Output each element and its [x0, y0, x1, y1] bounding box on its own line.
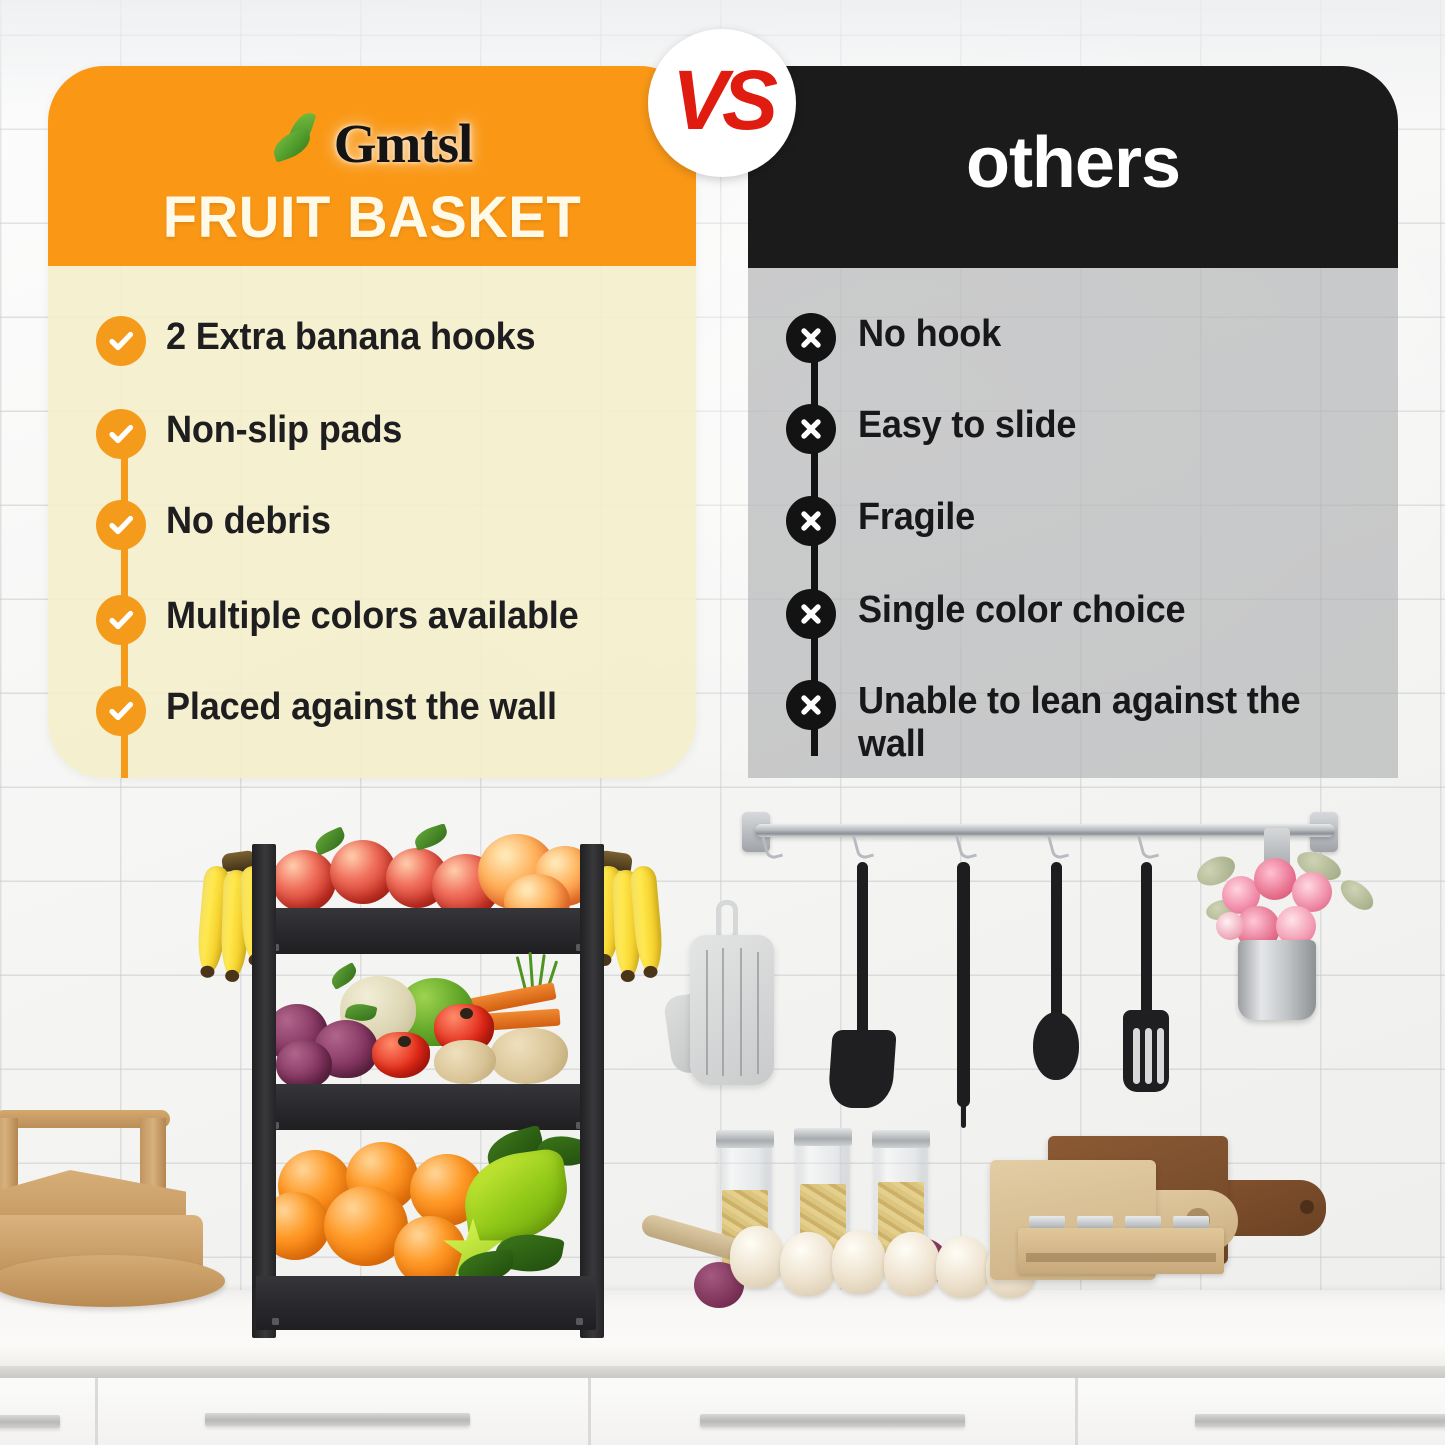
- cabinet-handle[interactable]: [205, 1413, 470, 1426]
- list-item: No debris: [96, 500, 666, 550]
- list-item: Easy to slide: [786, 404, 1386, 454]
- counter-edge: [0, 1366, 1445, 1378]
- cross-icon: [786, 680, 836, 730]
- feature-label: Unable to lean against the wall: [858, 680, 1362, 767]
- list-item: Single color choice: [786, 589, 1386, 639]
- vs-label: VS: [672, 52, 772, 149]
- comparison-panel-right: others No hook Easy to slide Fragile: [748, 66, 1398, 778]
- feature-label: Placed against the wall: [166, 686, 557, 729]
- fruit-basket-product: [246, 836, 608, 1356]
- feature-label: Non-slip pads: [166, 409, 402, 452]
- cross-icon: [786, 496, 836, 546]
- feature-label: No hook: [858, 313, 1001, 356]
- left-feature-list: 2 Extra banana hooks Non-slip pads No de…: [48, 66, 696, 778]
- cabinet-seam: [95, 1378, 98, 1445]
- cabinet-handle[interactable]: [0, 1415, 60, 1428]
- list-item: Multiple colors available: [96, 595, 666, 645]
- check-icon: [96, 500, 146, 550]
- cabinet-seam: [1075, 1378, 1078, 1445]
- check-icon: [96, 409, 146, 459]
- list-item: Fragile: [786, 496, 1386, 546]
- feature-label: No debris: [166, 500, 331, 543]
- cross-icon: [786, 404, 836, 454]
- cross-icon: [786, 589, 836, 639]
- cabinet-handle[interactable]: [1195, 1414, 1445, 1427]
- cabinet-seam: [588, 1378, 591, 1445]
- list-item: Non-slip pads: [96, 409, 666, 459]
- list-item: 2 Extra banana hooks: [96, 316, 666, 366]
- check-icon: [96, 316, 146, 366]
- list-item: No hook: [786, 313, 1386, 363]
- cross-icon: [786, 313, 836, 363]
- feature-label: 2 Extra banana hooks: [166, 316, 535, 359]
- cabinet-row: [0, 1378, 1445, 1445]
- check-icon: [96, 686, 146, 736]
- list-item: Unable to lean against the wall: [786, 680, 1396, 767]
- check-icon: [96, 595, 146, 645]
- list-item: Placed against the wall: [96, 686, 666, 736]
- feature-label: Easy to slide: [858, 404, 1076, 447]
- vs-badge: VS: [648, 29, 796, 177]
- cabinet-handle[interactable]: [700, 1414, 965, 1427]
- feature-label: Single color choice: [858, 589, 1185, 632]
- comparison-panel-left: Gmtsl FRUIT BASKET 2 Extra banana hooks …: [48, 66, 696, 778]
- feature-label: Fragile: [858, 496, 975, 539]
- right-feature-list: No hook Easy to slide Fragile Single col…: [748, 66, 1398, 778]
- feature-label: Multiple colors available: [166, 595, 579, 638]
